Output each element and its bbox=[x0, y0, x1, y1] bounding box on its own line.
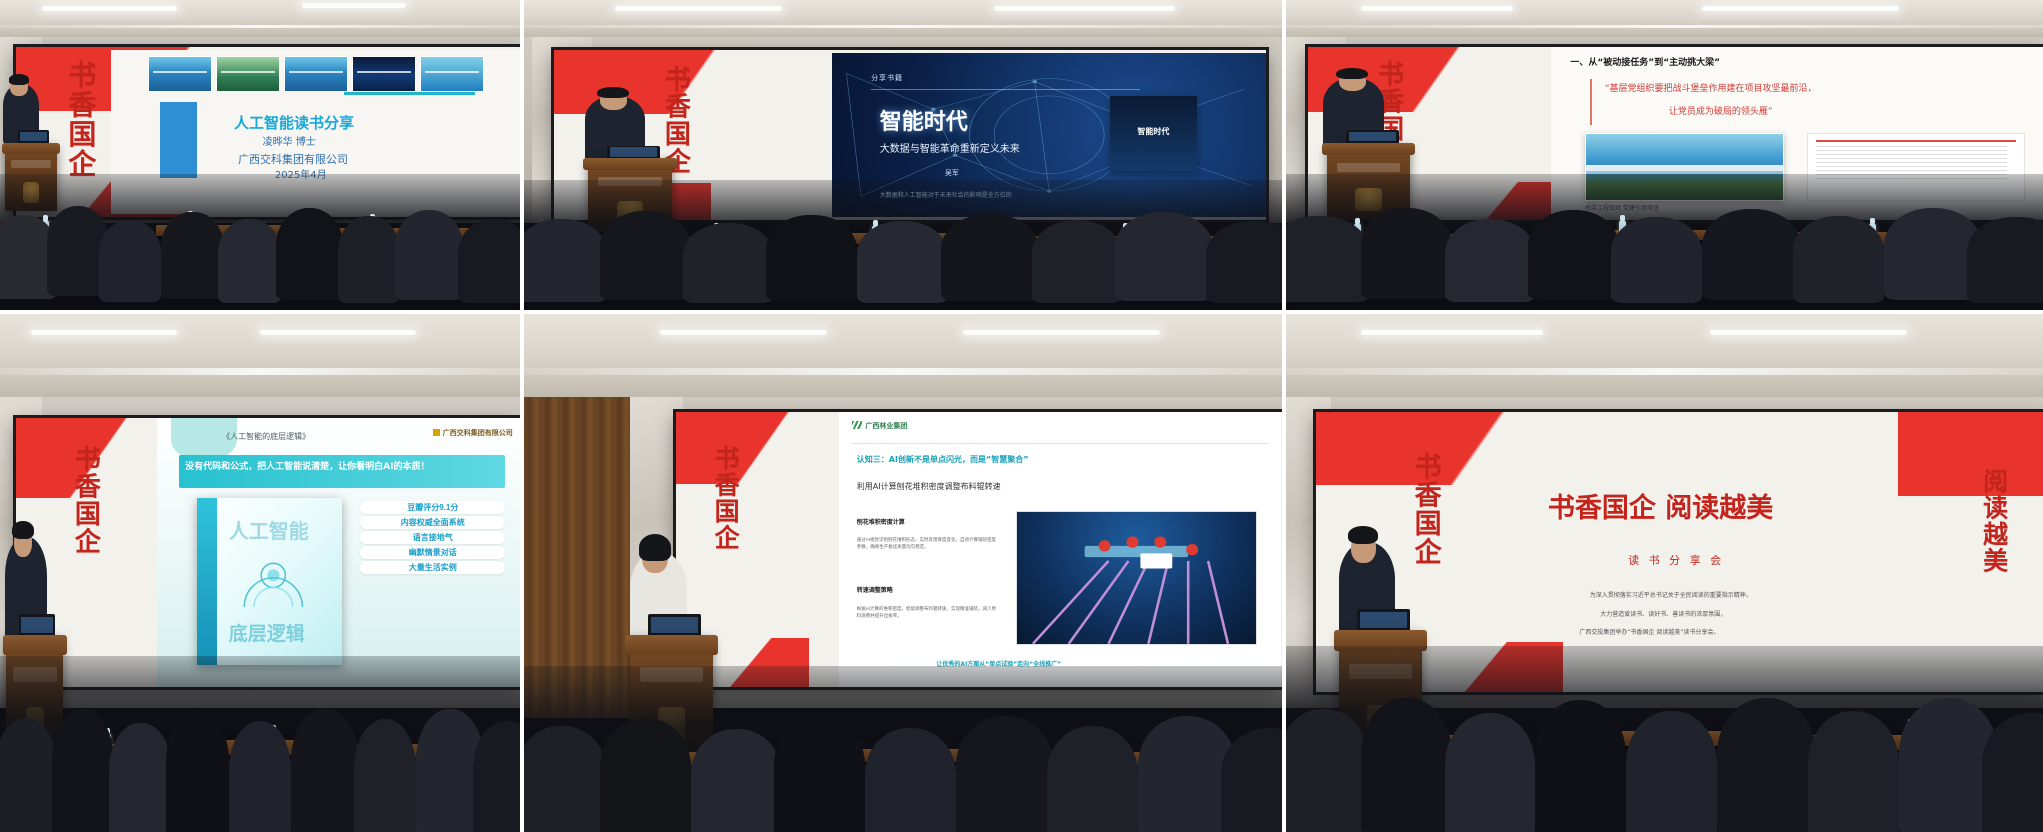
attendee bbox=[1206, 221, 1282, 303]
corp-logo-text: 广西交科集团有限公司 bbox=[443, 430, 513, 437]
attendee bbox=[395, 210, 463, 300]
ceiling-light bbox=[31, 330, 177, 335]
attendee bbox=[683, 223, 774, 304]
feature-pill: 内容权威全面系统 bbox=[360, 516, 505, 529]
attendee bbox=[218, 219, 280, 304]
ceiling-light bbox=[260, 330, 416, 335]
attendee bbox=[338, 216, 400, 303]
attendee bbox=[458, 219, 520, 304]
speaker-hair bbox=[597, 87, 629, 98]
slide-subtitle: 读 书 分 享 会 bbox=[1628, 552, 1724, 568]
slide-subheading: 利用AI计算刨花堆积密度调整布料辊转速 bbox=[857, 481, 1001, 492]
audience-area bbox=[0, 656, 520, 832]
calligraphy-shuxiangguoqi: 书香国企 bbox=[712, 445, 738, 665]
slide-author: 吴军 bbox=[945, 168, 959, 178]
attendee bbox=[1286, 216, 1369, 302]
slide-block1-body: 通过AI视觉识别刨花堆积形态，实时反馈厚度变化，自动计算铺装密度参数，确保生产板… bbox=[857, 536, 999, 550]
slide-deck: 《人工智能的底层逻辑》 广西交科集团有限公司 没有代码和公式，把人工智能说清楚，… bbox=[157, 418, 520, 687]
panel-5-ai-innovation-case: 书香国企 广西林业集团 认知三：AI创新不是单点闪光，而是“智慧聚合” 利用AI… bbox=[524, 314, 1282, 832]
ceiling-light bbox=[1702, 6, 1899, 11]
slide-banner-text: 没有代码和公式，把人工智能说清楚，让你看明白AI的本质！ bbox=[185, 459, 429, 472]
slide-line2: 大力营造爱读书、读好书、善读书的浓厚氛围， bbox=[1600, 609, 1726, 618]
eyebrow-rule bbox=[871, 89, 1140, 90]
speaker-hair bbox=[1348, 526, 1378, 544]
podium-top bbox=[583, 158, 676, 170]
attendee bbox=[1702, 209, 1800, 300]
ceiling-light bbox=[302, 3, 406, 8]
thumbnail-bridge-1 bbox=[148, 56, 212, 92]
logo-mark-icon bbox=[852, 421, 862, 429]
ceiling-light bbox=[42, 6, 177, 11]
podium-plaque bbox=[1337, 163, 1400, 172]
thumbnail-bridge-2 bbox=[284, 56, 348, 92]
audience-area bbox=[524, 666, 1282, 832]
attendee bbox=[1626, 711, 1717, 832]
attendee bbox=[1717, 698, 1815, 832]
thumbnail-bay-bridge bbox=[420, 56, 484, 92]
ceiling-light bbox=[994, 6, 1176, 11]
ceiling bbox=[1286, 314, 2043, 407]
calligraphy-shuxiangguoqi: 书香国企 bbox=[71, 445, 98, 666]
calligraphy-yueduyuemei: 阅读越美 bbox=[1980, 468, 2006, 664]
attendee bbox=[600, 718, 691, 832]
attendee bbox=[354, 719, 416, 832]
attendee bbox=[291, 709, 359, 832]
ceiling-light bbox=[1361, 6, 1513, 11]
attendee bbox=[99, 220, 161, 302]
ceiling bbox=[0, 314, 520, 407]
attendee bbox=[1528, 210, 1619, 300]
attendee bbox=[1793, 216, 1884, 303]
corp-logo-text: 广西林业集团 bbox=[865, 423, 907, 430]
projection-screen: 书香国企 《人工智能的底层逻辑》 广西交科集团有限公司 没有代码和公式，把人工智… bbox=[16, 418, 520, 687]
book-cover-bottom: 底层逻辑 bbox=[229, 619, 305, 646]
attendee bbox=[774, 716, 865, 832]
slide-eyebrow: 分享书籍 bbox=[871, 73, 903, 83]
panel-4-ai-underlying-logic: 书香国企 《人工智能的底层逻辑》 广西交科集团有限公司 没有代码和公式，把人工智… bbox=[0, 314, 520, 832]
attendee bbox=[109, 723, 171, 832]
attendee bbox=[229, 721, 291, 832]
ceiling-light bbox=[963, 330, 1160, 335]
slide-heading: 认知三：AI创新不是单点闪光，而是“智慧聚合” bbox=[857, 454, 1029, 465]
feature-pill: 大量生活实例 bbox=[360, 561, 505, 574]
attendee bbox=[1808, 711, 1899, 832]
slide-block2-title: 转速调整策略 bbox=[857, 585, 893, 594]
podium-plaque bbox=[11, 160, 51, 168]
attendee bbox=[473, 721, 520, 832]
attendee bbox=[1115, 212, 1213, 301]
logo-mark-icon bbox=[433, 429, 440, 436]
attendee bbox=[766, 215, 857, 301]
feature-pill: 语言接地气 bbox=[360, 531, 505, 544]
attendee bbox=[600, 211, 691, 300]
speaker-hair bbox=[1336, 68, 1368, 79]
podium-top bbox=[3, 635, 67, 655]
attendee bbox=[1286, 709, 1369, 832]
panel-2-intelligent-era: 书香国企 分享书籍 智能时代 bbox=[524, 0, 1282, 310]
corp-logo: 广西林业集团 bbox=[852, 421, 907, 431]
panel-3-party-building: 书香国企 一、从“被动接任务”到“主动挑大梁” “基层党组织要把战斗堡垒作用建在… bbox=[1286, 0, 2043, 310]
podium-top bbox=[2, 143, 60, 154]
feature-pill: 幽默情景对话 bbox=[360, 546, 505, 559]
corp-logo: 广西交科集团有限公司 bbox=[433, 428, 513, 438]
attendee bbox=[161, 212, 223, 299]
feature-pill-list: 豆瓣评分9.1分 内容权威全面系统 语言接地气 幽默情景对话 大量生活实例 bbox=[360, 501, 505, 576]
attendee bbox=[1361, 698, 1452, 832]
book-cover-title: 智能时代 bbox=[1117, 126, 1190, 137]
ceiling-light bbox=[1710, 330, 1907, 335]
audience-area bbox=[524, 180, 1282, 310]
projection-screen: 书香国企 广西林业集团 认知三：AI创新不是单点闪光，而是“智慧聚合” 利用AI… bbox=[676, 412, 1282, 687]
slide-organization: 广西交科集团有限公司 bbox=[238, 151, 348, 167]
red-brush-graphic bbox=[676, 412, 858, 483]
book-cover: 智能时代 bbox=[1110, 96, 1197, 171]
audience-area bbox=[1286, 646, 2043, 832]
header-rule bbox=[852, 443, 1268, 444]
book-cover: 人工智能 底层逻辑 bbox=[197, 498, 342, 665]
slide-title: 人工智能读书分享 bbox=[234, 112, 354, 133]
slide-heading: 一、从“被动接任务”到“主动挑大梁” bbox=[1570, 55, 1720, 68]
ceiling bbox=[524, 314, 1282, 407]
attendee bbox=[524, 219, 607, 302]
speaker-hair bbox=[639, 534, 671, 561]
panel-1-ai-reading-share: 书香国企 人工智能读书分享 凌晔华 博士 广西交科集团有限公司 2025年4月 bbox=[0, 0, 520, 310]
production-line-graphic bbox=[1017, 512, 1256, 644]
book-spine bbox=[197, 498, 217, 665]
red-block-right bbox=[1898, 412, 2043, 496]
attendee bbox=[52, 709, 114, 832]
attendee bbox=[941, 214, 1039, 301]
podium-top bbox=[625, 635, 718, 655]
slide-book-title: 《人工智能的底层逻辑》 bbox=[222, 431, 310, 442]
slide-deck: 书香国企 阅读越美 读 书 分 享 会 为深入贯彻落实习近平总书记关于全民阅读的… bbox=[1534, 435, 1883, 670]
slide-quote-line1: “基层党组织要把战斗堡垒作用建在项目攻坚最前沿， bbox=[1605, 81, 1817, 94]
slide-banner: 没有代码和公式，把人工智能说清楚，让你看明白AI的本质！ bbox=[179, 455, 506, 487]
panel-6-event-closing: 书香国企 阅读越美 书香国企 阅读越美 读 书 分 享 会 为深入贯彻落实习近平… bbox=[1286, 314, 2043, 832]
slide-quote-line2: 让党员成为破局的领头雁” bbox=[1669, 104, 1773, 117]
slide-thumbnail-row bbox=[148, 56, 484, 92]
thumbnail-night-bridge bbox=[352, 56, 416, 92]
thumbnail-landscape bbox=[216, 56, 280, 92]
attendee bbox=[166, 710, 228, 832]
audience-area bbox=[0, 174, 520, 310]
book-cover-graphic bbox=[237, 555, 310, 615]
slide-photo-production-line bbox=[1016, 511, 1257, 645]
slide-block1-title: 刨花堆积密度计算 bbox=[857, 517, 905, 526]
slide-title: 智能时代 bbox=[880, 104, 968, 136]
attendee bbox=[1611, 217, 1702, 303]
audience-area bbox=[1286, 174, 2043, 310]
slide-deck: 广西林业集团 认知三：AI创新不是单点闪光，而是“智慧聚合” 利用AI计算刨花堆… bbox=[839, 412, 1281, 687]
slide-line1: 为深入贯彻落实习近平总书记关于全民阅读的重要指示精神， bbox=[1590, 590, 1752, 599]
attendee bbox=[1535, 700, 1626, 832]
blue-accent-bar bbox=[160, 102, 197, 177]
teal-divider bbox=[344, 92, 475, 95]
slide-subtitle: 大数据与智能革命重新定义未来 bbox=[880, 140, 1020, 155]
book-cover-top: 人工智能 bbox=[229, 515, 309, 544]
quote-rule bbox=[1590, 79, 1592, 124]
ceiling-light bbox=[1361, 330, 1543, 335]
podium-top bbox=[1322, 143, 1415, 155]
attendee bbox=[0, 718, 57, 832]
attendee bbox=[1967, 217, 2043, 303]
attendee bbox=[1445, 219, 1536, 302]
ceiling-light bbox=[660, 330, 827, 335]
attendee bbox=[276, 208, 344, 301]
attendee bbox=[956, 716, 1054, 832]
attendee bbox=[691, 729, 782, 832]
slide-main-title: 书香国企 阅读越美 bbox=[1548, 486, 1773, 525]
slide-line3: 广西交投集团举办“书香国企 阅读越美”读书分享会。 bbox=[1579, 627, 1719, 636]
attendee bbox=[857, 221, 948, 303]
speaker-hair bbox=[12, 521, 34, 539]
photo-collage: 书香国企 人工智能读书分享 凌晔华 博士 广西交科集团有限公司 2025年4月 bbox=[0, 0, 2043, 832]
attendee bbox=[865, 728, 956, 832]
attendee bbox=[1445, 713, 1536, 832]
slide-presenter: 凌晔华 博士 bbox=[263, 133, 316, 148]
slide-block2-body: 根据AI计算的堆积密度，智能调整布料辊转速，实现精准铺装，减少原料浪费并提升出板… bbox=[857, 605, 999, 619]
feature-pill: 豆瓣评分9.1分 bbox=[360, 501, 505, 514]
attendee bbox=[1032, 220, 1123, 303]
attendee bbox=[1047, 726, 1138, 832]
attendee bbox=[1361, 208, 1452, 299]
speaker-hair bbox=[9, 74, 29, 85]
ceiling-light bbox=[615, 6, 782, 11]
attendee bbox=[524, 726, 607, 832]
